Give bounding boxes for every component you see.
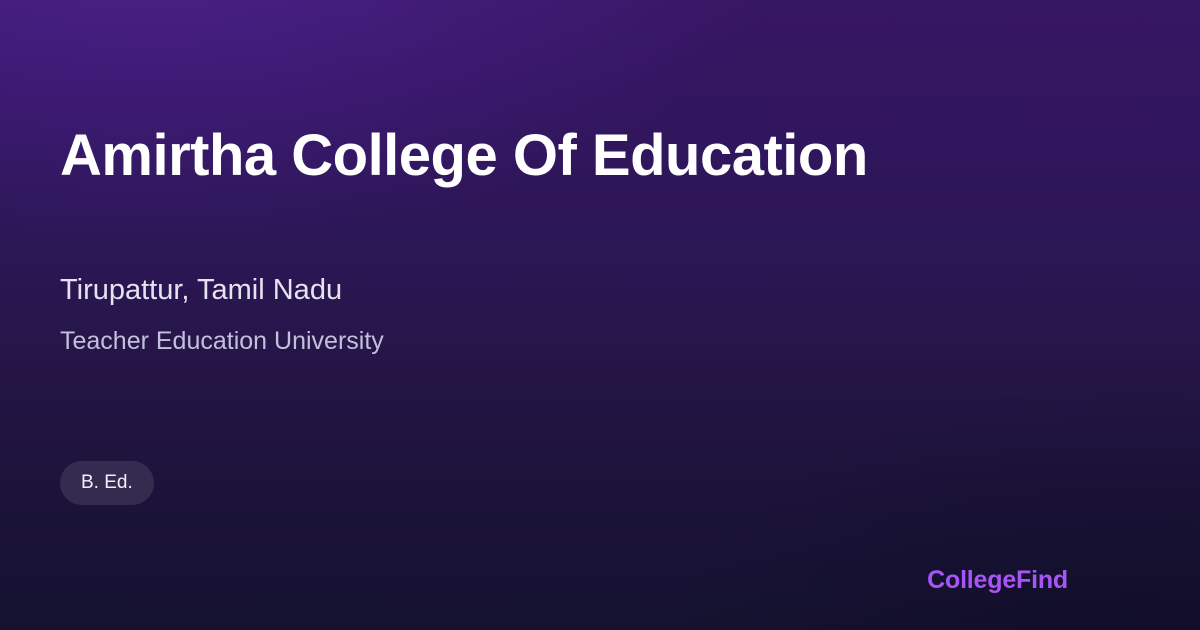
status-badge: B. Ed. xyxy=(60,461,154,505)
page-title: Amirtha College Of Education xyxy=(60,124,868,189)
college-share-card: Amirtha College Of Education Tirupattur,… xyxy=(0,0,1200,630)
college-location: Tirupattur, Tamil Nadu xyxy=(60,272,342,308)
college-category: Teacher Education University xyxy=(60,326,384,357)
brand-name: CollegeFind xyxy=(927,566,1068,594)
brand-logo: CollegeFind xyxy=(927,566,1068,595)
card-content: Amirtha College Of Education Tirupattur,… xyxy=(60,0,1140,630)
tag-row: B. Ed. xyxy=(60,461,154,505)
